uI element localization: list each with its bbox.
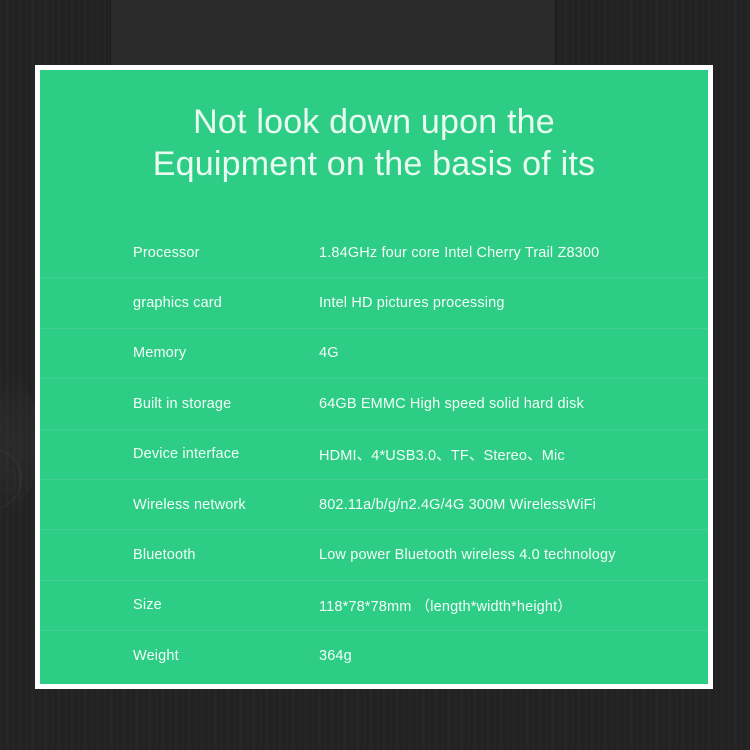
card-title: Not look down upon the Equipment on the …: [40, 101, 708, 185]
spec-label: Memory: [133, 345, 319, 361]
spec-row: Size118*78*78mm （length*width*height）: [40, 581, 708, 631]
backdrop-left-object-detail: [0, 470, 16, 490]
spec-row: Weight364g: [40, 631, 708, 681]
spec-label: Wireless network: [133, 497, 319, 513]
spec-row: Processor1.84GHz four core Intel Cherry …: [40, 228, 708, 278]
spec-row: Built in storage64GB EMMC High speed sol…: [40, 379, 708, 429]
spec-row: Wireless network802.11a/b/g/n2.4G/4G 300…: [40, 480, 708, 530]
spec-value: 64GB EMMC High speed solid hard disk: [319, 396, 584, 412]
spec-value: 4G: [319, 345, 339, 361]
spec-value: 802.11a/b/g/n2.4G/4G 300M WirelessWiFi: [319, 497, 596, 513]
spec-value: HDMI、4*USB3.0、TF、Stereo、Mic: [319, 444, 565, 465]
spec-row: Device interfaceHDMI、4*USB3.0、TF、Stereo、…: [40, 430, 708, 480]
spec-label: Built in storage: [133, 396, 319, 412]
spec-value: 118*78*78mm （length*width*height）: [319, 595, 572, 616]
spec-row: Memory4G: [40, 329, 708, 379]
spec-table: Processor1.84GHz four core Intel Cherry …: [40, 228, 708, 682]
spec-label: graphics card: [133, 295, 319, 311]
spec-value: Intel HD pictures processing: [319, 295, 505, 311]
spec-card-frame: Not look down upon the Equipment on the …: [35, 65, 713, 689]
spec-card: Not look down upon the Equipment on the …: [40, 70, 708, 684]
spec-row: BluetoothLow power Bluetooth wireless 4.…: [40, 530, 708, 580]
spec-label: Processor: [133, 245, 319, 261]
spec-row: graphics cardIntel HD pictures processin…: [40, 278, 708, 328]
spec-label: Size: [133, 597, 319, 613]
product-image-backdrop: Not look down upon the Equipment on the …: [0, 0, 750, 750]
spec-value: 1.84GHz four core Intel Cherry Trail Z83…: [319, 245, 599, 261]
backdrop-top-panel: [110, 0, 556, 68]
spec-value: 364g: [319, 648, 352, 664]
spec-label: Weight: [133, 648, 319, 664]
spec-label: Device interface: [133, 446, 319, 462]
spec-label: Bluetooth: [133, 547, 319, 563]
spec-value: Low power Bluetooth wireless 4.0 technol…: [319, 547, 616, 563]
